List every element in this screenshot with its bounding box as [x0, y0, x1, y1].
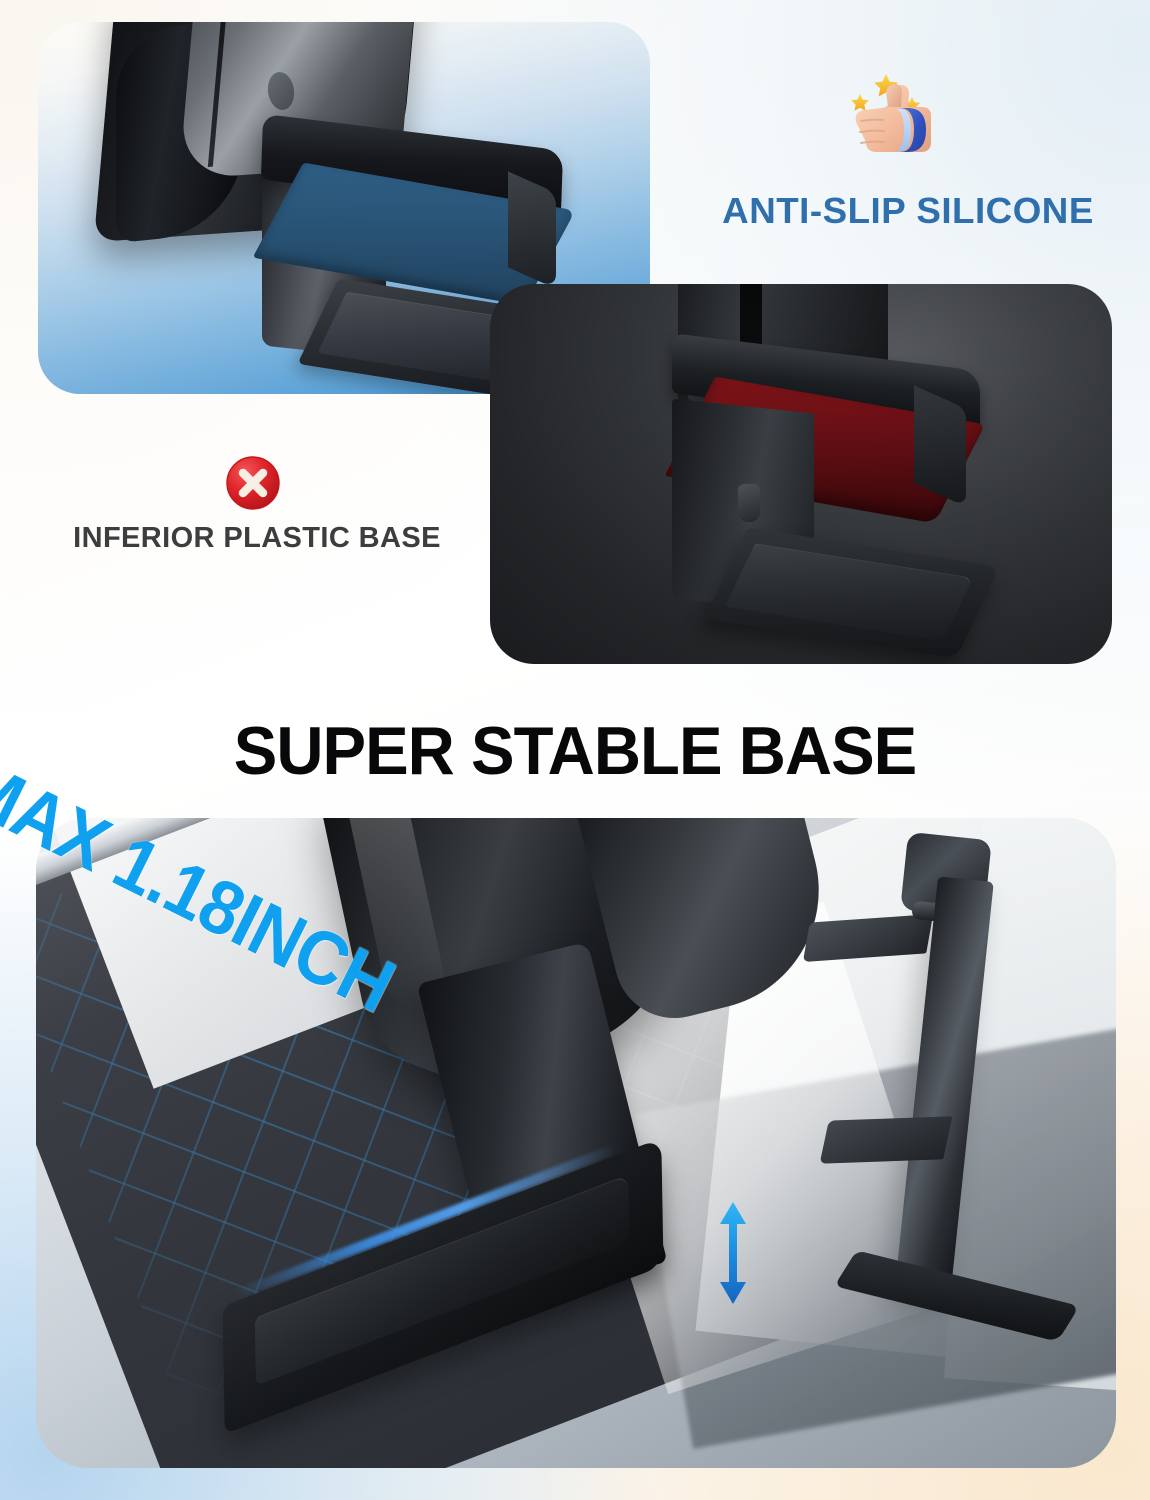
clamp-release-tab	[738, 484, 760, 522]
inferior-plastic-label: INFERIOR PLASTIC BASE	[32, 522, 482, 555]
infographic-page: ANTI-SLIP SILICONE INFERIOR PLASTIC BASE…	[0, 0, 1150, 1500]
thumbs-up-icon	[832, 62, 944, 174]
page-title: SUPER STABLE BASE	[23, 712, 1127, 790]
anti-slip-label: ANTI-SLIP SILICONE	[694, 190, 1122, 232]
x-cross-icon	[226, 456, 280, 510]
inferior-plastic-panel	[490, 284, 1112, 664]
up-down-arrow-icon	[716, 1200, 750, 1306]
stand-bracket-bottom	[820, 1116, 953, 1163]
